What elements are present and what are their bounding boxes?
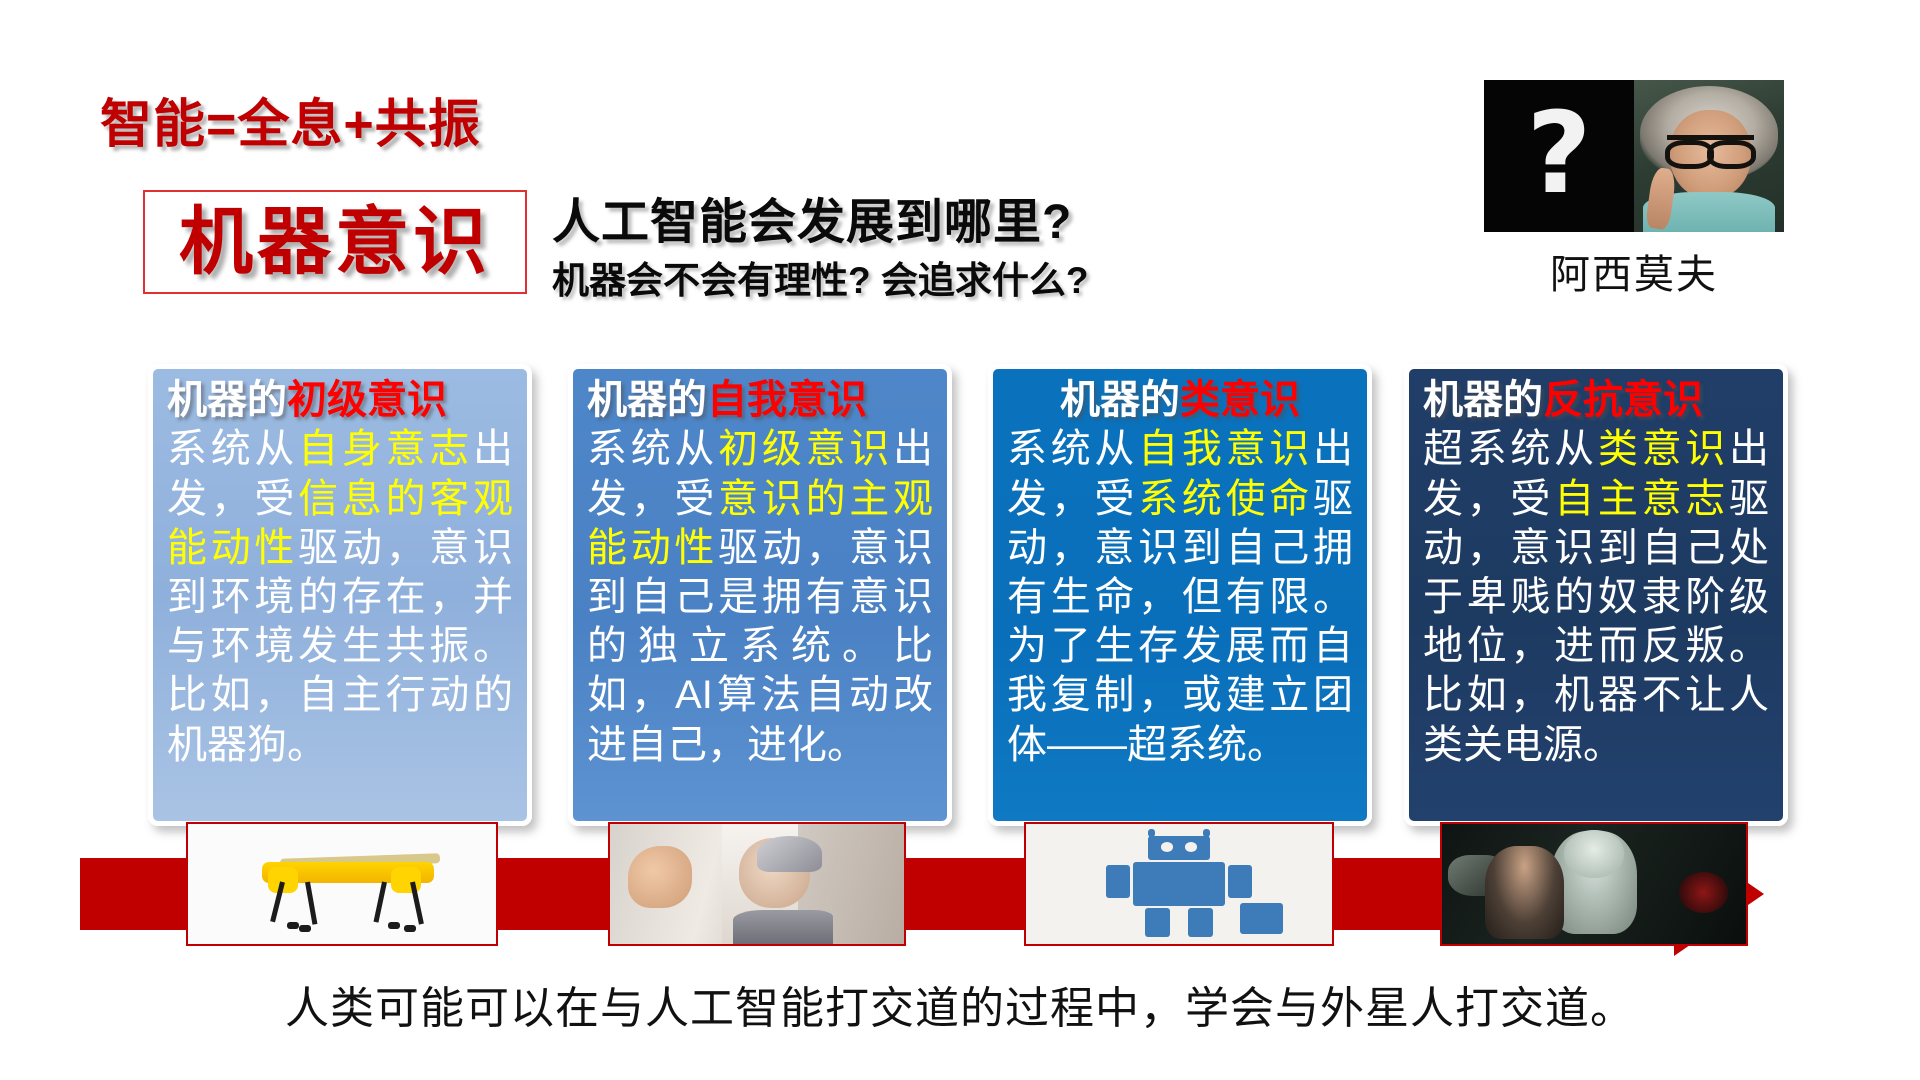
card-header-red: 反抗意识 (1543, 378, 1703, 422)
bot-arm (1106, 865, 1130, 899)
card-self-consciousness: 机器的自我意识 系统从初级意识出发，受意识的主观能动性驱动，意识到自己是拥有意识… (568, 364, 952, 826)
card-species-consciousness: 机器的类意识 系统从自我意识出发，受系统使命驱动，意识到自己拥有生命，但有限。为… (988, 364, 1372, 826)
slide-headline: 智能=全息+共振 (100, 82, 481, 157)
body-part-highlight: 系统使命 (1138, 477, 1313, 521)
body-part-highlight: 自身意志 (298, 427, 473, 471)
human-hand (628, 846, 693, 908)
slide-caption: 人类可能可以在与人工智能打交道的过程中，学会与外星人打交道。 (0, 972, 1920, 1036)
ex-machina-illustration (610, 824, 904, 944)
card-body: 系统从自身意志出发，受信息的客观能动性驱动，意识到环境的存在，并与环境发生共振。… (167, 425, 513, 769)
bot-antenna (1203, 829, 1209, 837)
card-header: 机器的类意识 (1007, 379, 1353, 421)
dog-foot (404, 925, 416, 932)
i-robot-illustration (1442, 824, 1746, 944)
card-header-white: 机器的 (1060, 378, 1180, 422)
woman-figure (1485, 846, 1564, 940)
asimov-portrait-photo (1634, 80, 1784, 232)
dog-leg (305, 881, 317, 924)
robot-skull-cap (757, 836, 822, 872)
bot-arm (1228, 865, 1252, 899)
dog-foot (388, 922, 400, 929)
card-body: 系统从初级意识出发，受意识的主观能动性驱动，意识到自己是拥有意识的独立系统。比如… (587, 425, 933, 769)
card-header: 机器的反抗意识 (1423, 379, 1769, 421)
asimov-name-label: 阿西莫夫 (1484, 242, 1784, 300)
body-part: 超系统从 (1423, 427, 1598, 471)
body-part: 系统从 (167, 427, 298, 471)
portrait-glasses (1667, 135, 1754, 160)
dog-foot (287, 922, 299, 929)
bot-side-unit (1240, 903, 1283, 934)
dog-foot (299, 925, 311, 932)
consciousness-cards-row: 机器的初级意识 系统从自身意志出发，受信息的客观能动性驱动，意识到环境的存在，并… (0, 364, 1920, 834)
body-part-highlight: 自主意志 (1554, 477, 1729, 521)
robot-dog-illustration (188, 824, 496, 944)
machine-consciousness-title-box: 机器意识 (143, 190, 527, 294)
body-part: 系统从 (1007, 427, 1138, 471)
card-header-red: 初级意识 (287, 378, 447, 422)
card-header-white: 机器的 (167, 378, 287, 422)
dog-leg (374, 881, 387, 922)
card-header-red: 类意识 (1180, 378, 1300, 422)
card-body: 超系统从类意识出发，受自主意志驱动，意识到自己处于卑贱的奴隶阶级地位，进而反叛。… (1423, 425, 1769, 769)
bot-leg (1145, 908, 1169, 937)
robot-torso (733, 910, 833, 944)
body-part-highlight: 类意识 (1598, 427, 1729, 471)
thumbnail-ex-machina (608, 822, 906, 946)
question-line-1: 人工智能会发展到哪里? (552, 196, 1088, 250)
red-glow (1679, 872, 1728, 913)
card-header-white: 机器的 (587, 378, 707, 422)
question-line-2: 机器会不会有理性? 会追求什么? (552, 260, 1088, 301)
card-body: 系统从自我意识出发，受系统使命驱动，意识到自己拥有生命，但有限。为了生存发展而自… (1007, 425, 1353, 769)
bot-torso (1133, 862, 1225, 905)
question-mark-panel: ? (1484, 80, 1634, 232)
question-block: 人工智能会发展到哪里? 机器会不会有理性? 会追求什么? (552, 196, 1088, 301)
bot-eye (1161, 842, 1173, 852)
card-header-white: 机器的 (1423, 378, 1543, 422)
body-part: 系统从 (587, 427, 718, 471)
title-box-text: 机器意识 (179, 205, 491, 279)
body-part-highlight: 自我意识 (1138, 427, 1313, 471)
bot-head (1148, 836, 1209, 860)
body-part-highlight: 初级意识 (718, 427, 893, 471)
card-rebellion-consciousness: 机器的反抗意识 超系统从类意识出发，受自主意志驱动，意识到自己处于卑贱的奴隶阶级… (1404, 364, 1788, 826)
bot-antenna (1148, 829, 1154, 837)
question-mark-icon: ? (1527, 98, 1592, 210)
dot-robot-illustration (1026, 824, 1332, 944)
thumbnail-dot-robot (1024, 822, 1334, 946)
thumbnail-i-robot (1440, 822, 1748, 946)
bot-leg (1188, 908, 1212, 937)
bot-eye (1185, 842, 1197, 852)
card-header-red: 自我意识 (707, 378, 867, 422)
ns5-robot-head (1564, 830, 1625, 878)
card-primary-consciousness: 机器的初级意识 系统从自身意志出发，受信息的客观能动性驱动，意识到环境的存在，并… (148, 364, 532, 826)
card-header: 机器的自我意识 (587, 379, 933, 421)
slide-root: 智能=全息+共振 机器意识 人工智能会发展到哪里? 机器会不会有理性? 会追求什… (0, 0, 1920, 1080)
thumbnail-robot-dog (186, 822, 498, 946)
asimov-image: ? (1484, 80, 1784, 232)
card-header: 机器的初级意识 (167, 379, 513, 421)
asimov-block: ? 阿西莫夫 (1484, 80, 1784, 300)
